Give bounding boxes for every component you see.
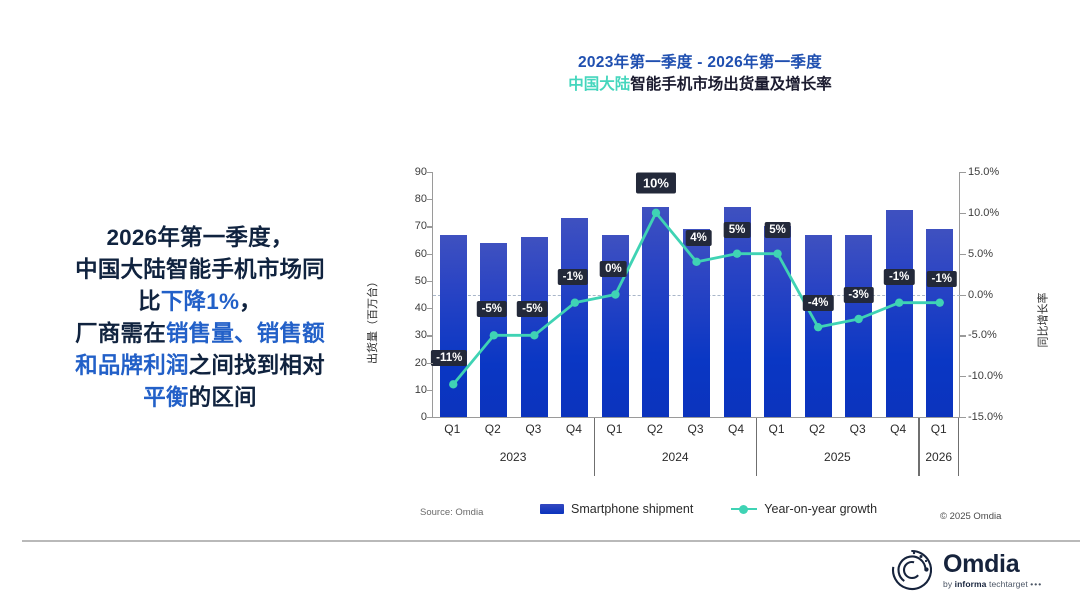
x-axis-year-label: 2023 — [500, 450, 527, 464]
growth-point-marker[interactable] — [936, 298, 944, 306]
y-axis-right-tick: 0.0% — [968, 289, 993, 301]
omdia-tagline: by informa techtarget ••• — [943, 580, 1042, 589]
y-axis-left-tick: 60 — [415, 248, 427, 260]
y-axis-left-tick: 90 — [415, 166, 427, 178]
omdia-mark-icon — [890, 548, 934, 592]
y-axis-left-tick: 10 — [415, 384, 427, 396]
x-axis-quarter-label: Q4 — [566, 422, 582, 436]
growth-point-marker[interactable] — [652, 209, 660, 217]
x-axis-quarter-label: Q4 — [728, 422, 744, 436]
x-axis-year-row: 2023202420252026 — [432, 450, 960, 474]
growth-data-label: -1% — [558, 269, 588, 285]
chart-legend: Smartphone shipment Year-on-year growth — [540, 502, 877, 516]
growth-point-marker[interactable] — [571, 298, 579, 306]
copyright-note: © 2025 Omdia — [940, 511, 1001, 522]
line-swatch-icon — [731, 503, 757, 515]
growth-point-marker[interactable] — [814, 323, 822, 331]
x-axis-quarter-label: Q4 — [890, 422, 906, 436]
lead-line-5: 和品牌利润之间找到相对 — [24, 350, 376, 382]
y-axis-right-tick: -5.0% — [968, 329, 997, 341]
y-axis-left-tick: 70 — [415, 220, 427, 232]
lead-line-1: 2026年第一季度， — [24, 222, 376, 254]
y-axis-right-tickmark — [960, 376, 966, 377]
title-line-2: 中国大陆智能手机市场出货量及增长率 — [430, 74, 970, 96]
growth-point-marker[interactable] — [530, 331, 538, 339]
y-axis-right-tickmark — [960, 295, 966, 296]
lead-line-2: 中国大陆智能手机市场同 — [24, 254, 376, 286]
y-axis-left-tick: 80 — [415, 193, 427, 205]
y-axis-right-tickmark — [960, 335, 966, 336]
x-axis-year-separator — [918, 418, 919, 476]
y-axis-left-label: 出货量（百万台） — [364, 276, 380, 364]
growth-point-marker[interactable] — [895, 298, 903, 306]
growth-point-marker[interactable] — [611, 290, 619, 298]
x-axis-quarter-label: Q1 — [444, 422, 460, 436]
growth-data-label: -4% — [803, 295, 833, 311]
footer-divider — [22, 540, 1080, 542]
slide: 2023年第一季度 - 2026年第一季度 中国大陆智能手机市场出货量及增长率 … — [0, 0, 1080, 608]
bar-swatch-icon — [540, 504, 564, 514]
chart-title: 2023年第一季度 - 2026年第一季度 中国大陆智能手机市场出货量及增长率 — [430, 52, 970, 97]
y-axis-left-tick: 50 — [415, 275, 427, 287]
x-axis-year-separator — [756, 418, 757, 476]
y-axis-left-tickmark — [427, 254, 433, 255]
x-axis-year-separator — [958, 418, 959, 476]
y-axis-left-tickmark — [427, 335, 433, 336]
lead-headline: 2026年第一季度， 中国大陆智能手机市场同 比下降1%， 厂商需在销售量、销售… — [24, 222, 376, 414]
y-axis-right-tickmark — [960, 172, 966, 173]
y-axis-right-tick: -10.0% — [968, 370, 1003, 382]
omdia-logo: Omdia by informa techtarget ••• — [890, 548, 1042, 592]
y-axis-right-tick: 10.0% — [968, 207, 999, 219]
legend-item-shipment[interactable]: Smartphone shipment — [540, 502, 693, 516]
growth-data-label: -1% — [884, 269, 914, 285]
lead-line-6: 平衡的区间 — [24, 382, 376, 414]
x-axis-quarter-label: Q1 — [606, 422, 622, 436]
x-axis-quarter-row: Q1Q2Q3Q4Q1Q2Q3Q4Q1Q2Q3Q4Q1 — [432, 422, 960, 446]
legend-label-growth: Year-on-year growth — [764, 502, 877, 516]
x-axis-quarter-label: Q2 — [647, 422, 663, 436]
growth-line-series — [433, 172, 960, 417]
growth-data-label: 5% — [764, 222, 791, 238]
omdia-wordmark: Omdia — [943, 552, 1042, 577]
growth-data-label: -3% — [843, 287, 873, 303]
y-axis-left-tickmark — [427, 390, 433, 391]
growth-point-marker[interactable] — [733, 249, 741, 257]
growth-data-label: 5% — [724, 222, 751, 238]
x-axis-quarter-label: Q3 — [687, 422, 703, 436]
title-region-text: 中国大陆 — [568, 76, 630, 93]
legend-item-growth[interactable]: Year-on-year growth — [731, 502, 877, 516]
x-axis-quarter-label: Q1 — [769, 422, 785, 436]
y-axis-left-tickmark — [427, 172, 433, 173]
y-axis-left-tick: 30 — [415, 329, 427, 341]
growth-point-marker[interactable] — [449, 380, 457, 388]
x-axis-year-label: 2024 — [662, 450, 689, 464]
chart-area: 出货量（百万台） 同比增长率 -11%-5%-5%-1%0%10%4%5%5%-… — [376, 160, 996, 480]
y-axis-right-tick: 15.0% — [968, 166, 999, 178]
growth-point-marker[interactable] — [773, 249, 781, 257]
x-axis-quarter-label: Q2 — [485, 422, 501, 436]
y-axis-right-tickmark — [960, 254, 966, 255]
x-axis: Q1Q2Q3Q4Q1Q2Q3Q4Q1Q2Q3Q4Q1 2023202420252… — [432, 418, 960, 480]
title-subject-text: 智能手机市场出货量及增长率 — [630, 76, 832, 93]
growth-data-label: -1% — [926, 271, 956, 287]
source-note: Source: Omdia — [420, 507, 483, 518]
y-axis-right-label: 同比增长率 — [1035, 293, 1051, 348]
x-axis-quarter-label: Q3 — [525, 422, 541, 436]
x-axis-quarter-label: Q3 — [850, 422, 866, 436]
y-axis-right-tickmark — [960, 417, 966, 418]
y-axis-left-tickmark — [427, 308, 433, 309]
x-axis-quarter-label: Q2 — [809, 422, 825, 436]
growth-data-label: 10% — [636, 172, 676, 193]
growth-point-marker[interactable] — [692, 258, 700, 266]
y-axis-left-tick: 40 — [415, 302, 427, 314]
title-line-1: 2023年第一季度 - 2026年第一季度 — [430, 52, 970, 74]
y-axis-left-tickmark — [427, 226, 433, 227]
x-axis-year-label: 2026 — [925, 450, 952, 464]
growth-data-label: -5% — [477, 301, 507, 317]
y-axis-right-tickmark — [960, 213, 966, 214]
omdia-logo-text: Omdia by informa techtarget ••• — [943, 552, 1042, 589]
y-axis-right-tick: -15.0% — [968, 411, 1003, 423]
x-axis-quarter-label: Q1 — [931, 422, 947, 436]
growth-data-label: -11% — [431, 350, 467, 366]
growth-point-marker[interactable] — [854, 315, 862, 323]
y-axis-left-tickmark — [427, 281, 433, 282]
y-axis-right-tick: 5.0% — [968, 248, 993, 260]
legend-label-shipment: Smartphone shipment — [571, 502, 693, 516]
growth-data-label: 4% — [685, 230, 712, 246]
lead-line-4: 厂商需在销售量、销售额 — [24, 318, 376, 350]
y-axis-left-tickmark — [427, 199, 433, 200]
y-axis-left-tickmark — [427, 363, 433, 364]
plot-region: -11%-5%-5%-1%0%10%4%5%5%-4%-3%-1%-1% 908… — [432, 172, 960, 418]
lead-line-3: 比下降1%， — [24, 286, 376, 318]
x-axis-year-separator — [594, 418, 595, 476]
growth-data-label: -5% — [517, 301, 547, 317]
growth-data-label: 0% — [600, 261, 627, 277]
growth-point-marker[interactable] — [490, 331, 498, 339]
x-axis-year-label: 2025 — [824, 450, 851, 464]
y-axis-left-tick: 20 — [415, 357, 427, 369]
